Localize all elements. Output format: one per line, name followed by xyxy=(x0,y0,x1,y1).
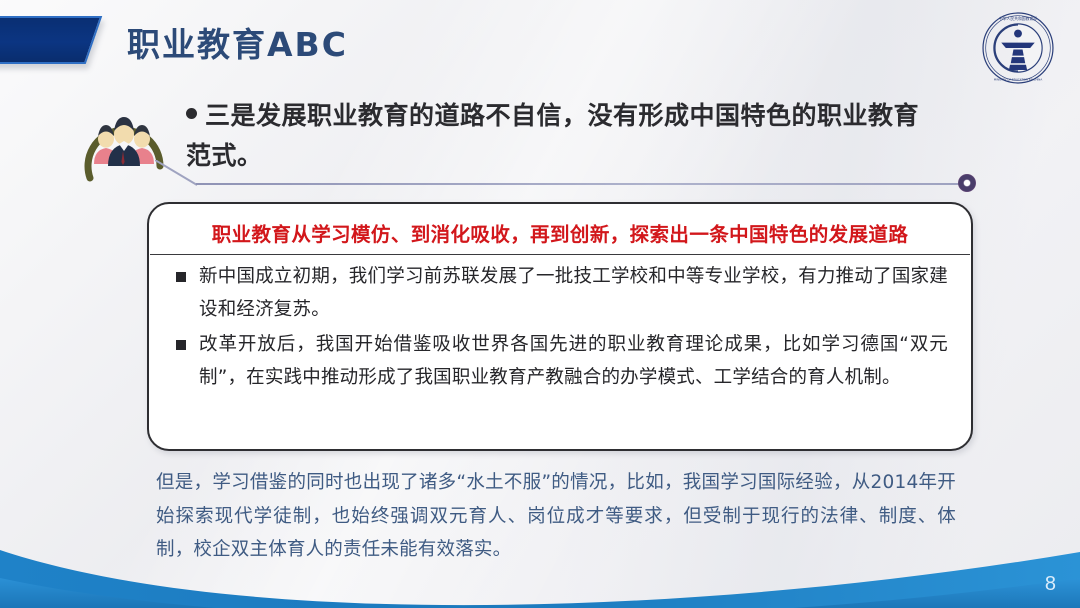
list-item-text: 新中国成立初期，我们学习前苏联发展了一批技工学校和中等专业学校，有力推动了国家建… xyxy=(199,261,948,327)
content-box: 职业教育从学习模仿、到消化吸收，再到创新，探索出一条中国特色的发展道路 新中国成… xyxy=(147,202,973,451)
list-item-text: 改革开放后，我国开始借鉴吸收世界各国先进的职业教育理论成果，比如学习德国“双元制… xyxy=(199,329,948,395)
square-bullet-icon xyxy=(176,340,186,350)
list-item: 新中国成立初期，我们学习前苏联发展了一批技工学校和中等专业学校，有力推动了国家建… xyxy=(176,261,948,327)
bullet-list: 新中国成立初期，我们学习前苏联发展了一批技工学校和中等专业学校，有力推动了国家建… xyxy=(176,261,948,397)
svg-text:MINISTRY OF EDUCATION P.R.CHIN: MINISTRY OF EDUCATION P.R.CHINA xyxy=(994,78,1043,82)
square-bullet-icon xyxy=(176,272,186,282)
slide-canvas: 职业教育ABC 中华人民共和国教育部 MINISTRY OF EDUCATION… xyxy=(0,0,1080,608)
svg-text:中华人民共和国教育部: 中华人民共和国教育部 xyxy=(999,16,1037,21)
footer-swoosh-shape xyxy=(0,538,1080,608)
ministry-of-education-emblem-icon: 中华人民共和国教育部 MINISTRY OF EDUCATION P.R.CHI… xyxy=(980,10,1056,86)
connector-horizontal-line xyxy=(196,183,962,185)
page-title: 职业教育ABC xyxy=(127,18,348,66)
content-box-divider xyxy=(150,254,970,255)
headline-text: 三是发展职业教育的道路不自信，没有形成中国特色的职业教育范式。 xyxy=(186,96,936,175)
people-group-circle-icon xyxy=(72,92,176,196)
content-box-title: 职业教育从学习模仿、到消化吸收，再到创新，探索出一条中国特色的发展道路 xyxy=(149,218,971,247)
corner-accent-shape xyxy=(0,16,102,64)
headline-bullet-icon xyxy=(186,108,197,119)
list-item: 改革开放后，我国开始借鉴吸收世界各国先进的职业教育理论成果，比如学习德国“双元制… xyxy=(176,329,948,395)
page-number: 8 xyxy=(1045,573,1056,596)
footer-decoration: 8 xyxy=(0,538,1080,608)
connector-end-dot-icon xyxy=(958,174,976,192)
headline-label: 三是发展职业教育的道路不自信，没有形成中国特色的职业教育范式。 xyxy=(186,101,919,170)
